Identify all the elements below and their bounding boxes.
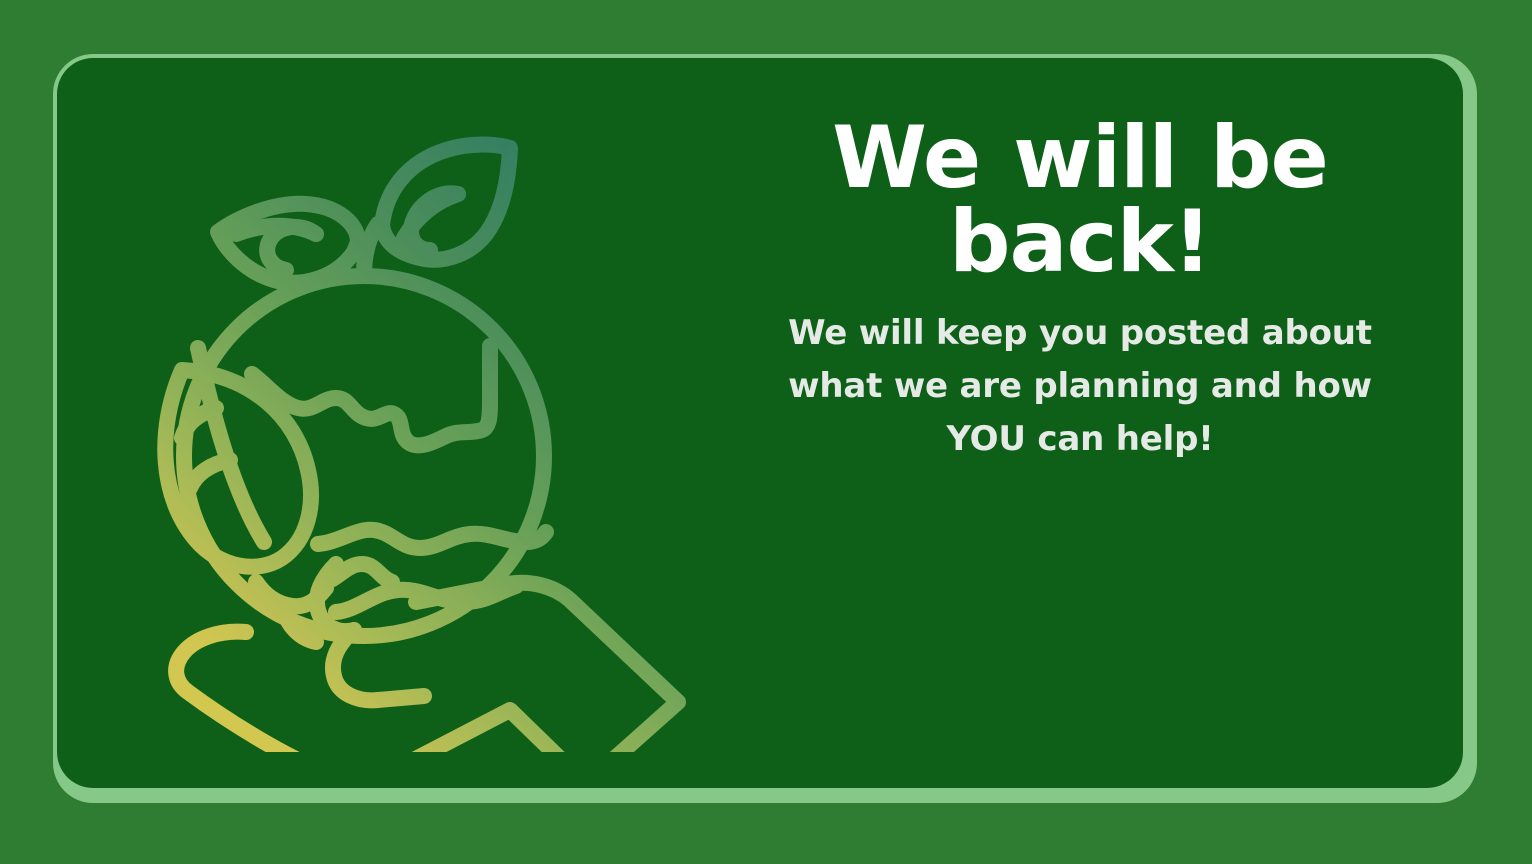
continent-equator <box>318 530 546 548</box>
illustration-column <box>57 58 697 788</box>
slide-canvas: We will be back! We will keep you posted… <box>0 0 1532 864</box>
hand-holding-earth-with-sprout-icon <box>86 112 686 752</box>
sprout-leaf-left-curl <box>267 227 316 270</box>
hand-palm-outline <box>176 583 678 752</box>
foreground-leaf-vein-b <box>190 460 230 488</box>
page-title: We will be back! <box>770 116 1390 285</box>
page-subtitle: We will keep you posted about what we ar… <box>760 307 1400 466</box>
text-column: We will be back! We will keep you posted… <box>697 58 1463 788</box>
content-card: We will be back! We will keep you posted… <box>57 58 1463 788</box>
card-layout: We will be back! We will keep you posted… <box>57 58 1463 788</box>
